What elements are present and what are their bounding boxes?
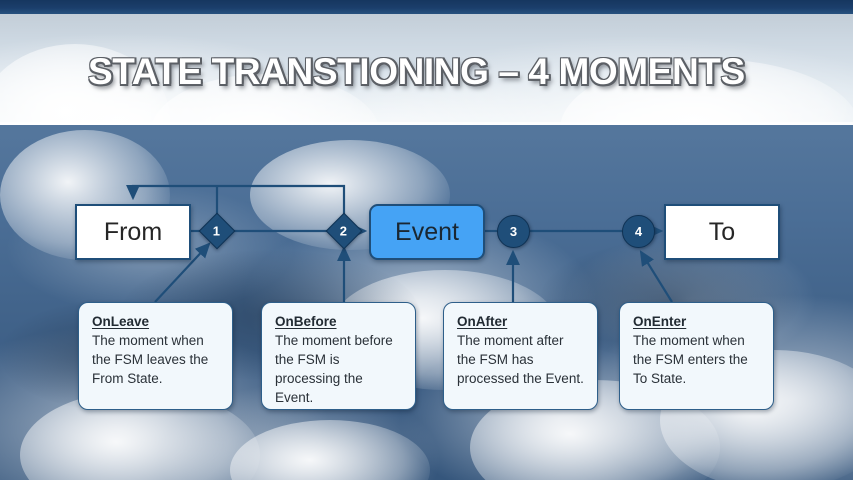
marker-4[interactable]: 4 [622,215,655,248]
callout-title: OnEnter [633,314,686,329]
callout-onafter[interactable]: OnAfter The moment after the FSM has pro… [443,302,598,410]
callout-text: The moment after the FSM has processed t… [457,331,586,388]
callout-onleave[interactable]: OnLeave The moment when the FSM leaves t… [78,302,233,410]
slide-canvas: STATE TRANSTIONING – 4 MOMENTS [0,0,853,480]
state-node-event[interactable]: Event [369,204,485,260]
state-node-to[interactable]: To [664,204,780,260]
state-node-from[interactable]: From [75,204,191,260]
callout-title: OnAfter [457,314,507,329]
marker-3-label: 3 [510,224,517,239]
callout-text: The moment when the FSM leaves the From … [92,331,221,388]
callout-text: The moment before the FSM is processing … [275,331,404,407]
marker-4-label: 4 [635,224,642,239]
callout-title: OnLeave [92,314,149,329]
marker-3[interactable]: 3 [497,215,530,248]
callout-title: OnBefore [275,314,337,329]
marker-1-label: 1 [213,223,220,238]
callout-onenter[interactable]: OnEnter The moment when the FSM enters t… [619,302,774,410]
marker-2-label: 2 [340,223,347,238]
callout-text: The moment when the FSM enters the To St… [633,331,762,388]
callout-onbefore[interactable]: OnBefore The moment before the FSM is pr… [261,302,416,410]
